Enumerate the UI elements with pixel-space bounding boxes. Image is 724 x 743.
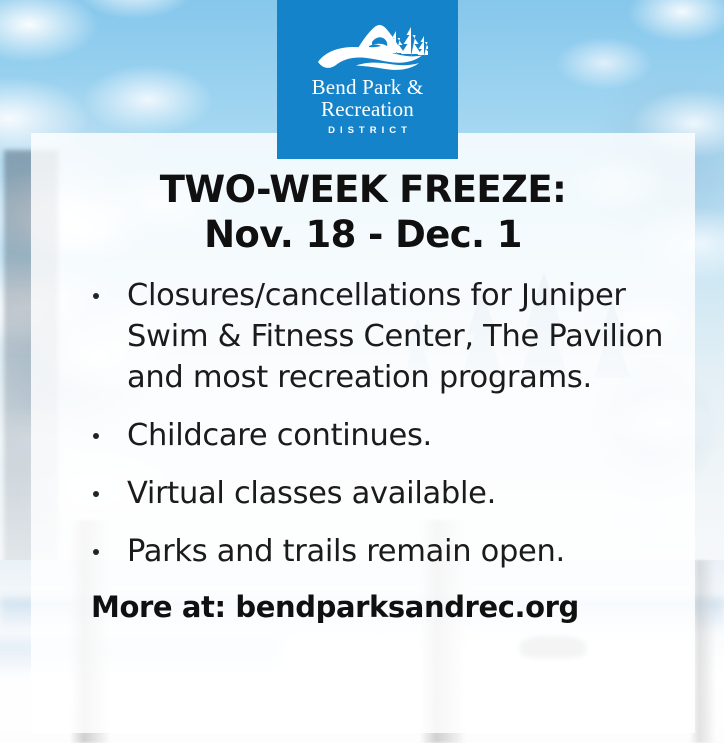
- mountain-pines-river-icon: [308, 16, 428, 72]
- announcement-poster: Bend Park & Recreation DISTRICT TWO-WEEK…: [0, 0, 724, 743]
- list-item: Childcare continues.: [91, 415, 673, 456]
- more-info-link[interactable]: More at: bendparksandrec.org: [53, 589, 673, 625]
- headline: TWO-WEEK FREEZE: Nov. 18 - Dec. 1: [53, 167, 673, 257]
- logo-wordmark-line2: Recreation: [312, 98, 424, 120]
- list-item: Closures/cancellations for Juniper Swim …: [91, 275, 673, 398]
- list-item: Parks and trails remain open.: [91, 531, 673, 572]
- headline-line2: Nov. 18 - Dec. 1: [53, 212, 673, 257]
- logo-subtitle: DISTRICT: [328, 125, 412, 136]
- brand-logo-block: Bend Park & Recreation DISTRICT: [277, 0, 458, 159]
- bullet-list: Closures/cancellations for Juniper Swim …: [53, 275, 673, 572]
- headline-line1: TWO-WEEK FREEZE:: [160, 168, 566, 211]
- logo-wordmark-line1: Bend Park &: [312, 75, 424, 99]
- list-item: Virtual classes available.: [91, 473, 673, 514]
- logo-wordmark: Bend Park & Recreation: [312, 76, 424, 120]
- announcement-content: TWO-WEEK FREEZE: Nov. 18 - Dec. 1 Closur…: [31, 133, 695, 733]
